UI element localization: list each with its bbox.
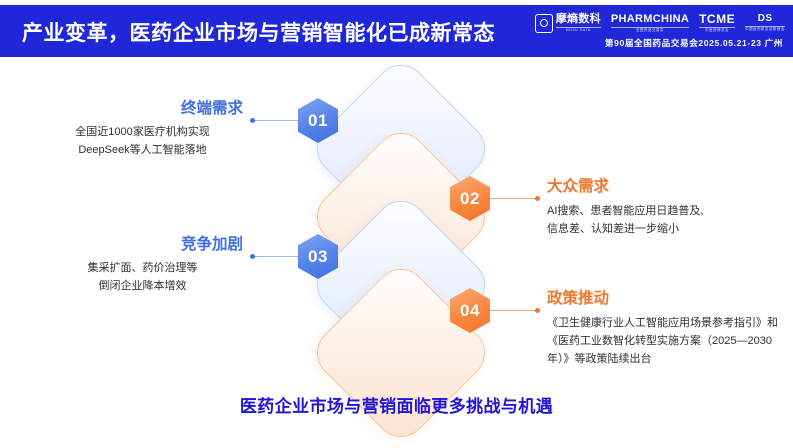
logo-ds-sub: 中国医药研发创新峰会 [745, 26, 785, 32]
content-title-02: 大众需求 [547, 178, 785, 195]
connector-line-02 [489, 198, 537, 199]
content-title-01: 终端需求 [40, 100, 245, 117]
logo-mosu-shuke: 摩熵数科 MOSU DATA [535, 14, 601, 33]
logo-mosu-sub: MOSU DATA [556, 27, 601, 33]
content-body-02: AI搜索、患者智能应用日趋普及, 信息差、认知差进一步缩小 [547, 203, 785, 239]
footer-summary: 医药企业市场与营销面临更多挑战与机遇 [0, 392, 793, 417]
content-body-01: 全国近1000家医疗机构实现 DeepSeek等人工智能落地 [40, 124, 245, 160]
content-body-01-line-2: DeepSeek等人工智能落地 [40, 142, 245, 160]
logo-mosu-main: 摩熵数科 [556, 14, 601, 25]
content-body-01-line-1: 全国近1000家医疗机构实现 [40, 124, 245, 142]
content-body-04: 《卫生健康行业人工智能应用场景参考指引》和《医药工业数智化转型实施方案（2025… [547, 315, 787, 368]
header-bar: 产业变革，医药企业市场与营销智能化已成新常态 摩熵数科 MOSU DATA PH… [0, 5, 793, 57]
connector-dot-04 [535, 308, 540, 313]
logo-tcme-main: TCME [699, 13, 735, 25]
connector-line-03 [253, 256, 301, 257]
connector-dot-03 [250, 254, 255, 259]
connector-dot-01 [250, 118, 255, 123]
page-title: 产业变革，医药企业市场与营销智能化已成新常态 [22, 17, 495, 47]
content-block-02: 大众需求 AI搜索、患者智能应用日趋普及, 信息差、认知差进一步缩小 [547, 178, 785, 239]
content-body-03-line-2: 倒闭企业降本增效 [40, 278, 245, 296]
connector-dot-02 [535, 196, 540, 201]
logo-tcme-sub: 中医药博览会 [699, 27, 735, 33]
header-branding: 摩熵数科 MOSU DATA PHARMCHINA 全国药品交易会 TCME 中… [515, 9, 785, 55]
logo-row: 摩熵数科 MOSU DATA PHARMCHINA 全国药品交易会 TCME 中… [515, 11, 785, 35]
logo-pharmchina: PHARMCHINA 全国药品交易会 [611, 14, 689, 33]
logo-ds: DS 中国医药研发创新峰会 [745, 14, 785, 32]
content-body-03-line-1: 集采扩面、药价治理等 [40, 260, 245, 278]
slide-root: 产业变革，医药企业市场与营销智能化已成新常态 摩熵数科 MOSU DATA PH… [0, 0, 793, 446]
connector-line-01 [253, 120, 301, 121]
content-title-04: 政策推动 [547, 290, 787, 307]
logo-pharmchina-main: PHARMCHINA [611, 14, 689, 25]
logo-ds-main: DS [758, 14, 773, 24]
logo-tcme: TCME 中医药博览会 [699, 13, 735, 33]
content-title-03: 竞争加剧 [40, 236, 245, 253]
content-block-03: 竞争加剧 集采扩面、药价治理等 倒闭企业降本增效 [40, 236, 245, 296]
logo-pharmchina-sub: 全国药品交易会 [611, 27, 689, 33]
event-info-line: 第90届全国药品交易会2025.05.21-23 广州 [605, 37, 783, 49]
content-body-02-line-1: AI搜索、患者智能应用日趋普及, [547, 203, 785, 221]
content-body-03: 集采扩面、药价治理等 倒闭企业降本增效 [40, 260, 245, 296]
mosu-hexagon-icon [535, 14, 553, 33]
content-body-02-line-2: 信息差、认知差进一步缩小 [547, 221, 785, 239]
content-body-04-line-1: 《卫生健康行业人工智能应用场景参考指引》和《医药工业数智化转型实施方案（2025… [547, 315, 787, 368]
content-block-01: 终端需求 全国近1000家医疗机构实现 DeepSeek等人工智能落地 [40, 100, 245, 160]
content-block-04: 政策推动 《卫生健康行业人工智能应用场景参考指引》和《医药工业数智化转型实施方案… [547, 290, 787, 368]
connector-line-04 [489, 310, 537, 311]
